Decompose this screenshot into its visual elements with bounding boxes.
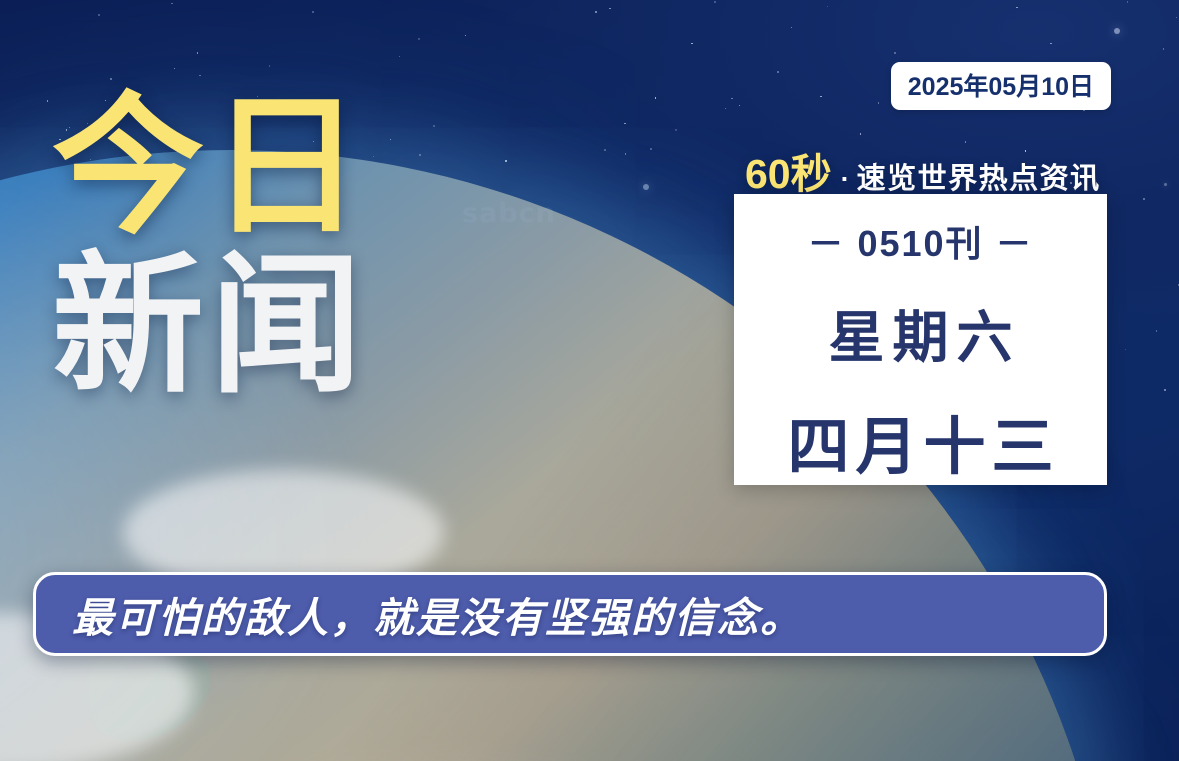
tagline-separator-icon: ·: [841, 164, 850, 195]
watermark-text: sabcn: [462, 198, 556, 229]
title-line-news: 新闻: [52, 255, 368, 398]
tagline-seconds: 60秒: [745, 140, 832, 200]
title-line-today: 今日: [52, 96, 368, 239]
news-poster: sabcn 今日 新闻 2025年05月10日 60秒 · 速览世界热点资讯 －…: [0, 0, 1179, 761]
quote-text: 最可怕的敌人，就是没有坚强的信念。: [72, 584, 803, 644]
weekday-label: 星期六: [821, 293, 1021, 374]
date-badge: 2025年05月10日: [891, 62, 1111, 110]
page-title: 今日 新闻: [52, 96, 368, 398]
quote-banner: 最可怕的敌人，就是没有坚强的信念。: [33, 572, 1107, 656]
tagline: 60秒 · 速览世界热点资讯: [745, 140, 1101, 200]
issue-number: － 0510刊 －: [807, 215, 1033, 267]
lunar-date: 四月十三: [781, 396, 1059, 486]
tagline-text: 速览世界热点资讯: [857, 155, 1101, 197]
issue-card: － 0510刊 － 星期六 四月十三: [734, 194, 1107, 485]
